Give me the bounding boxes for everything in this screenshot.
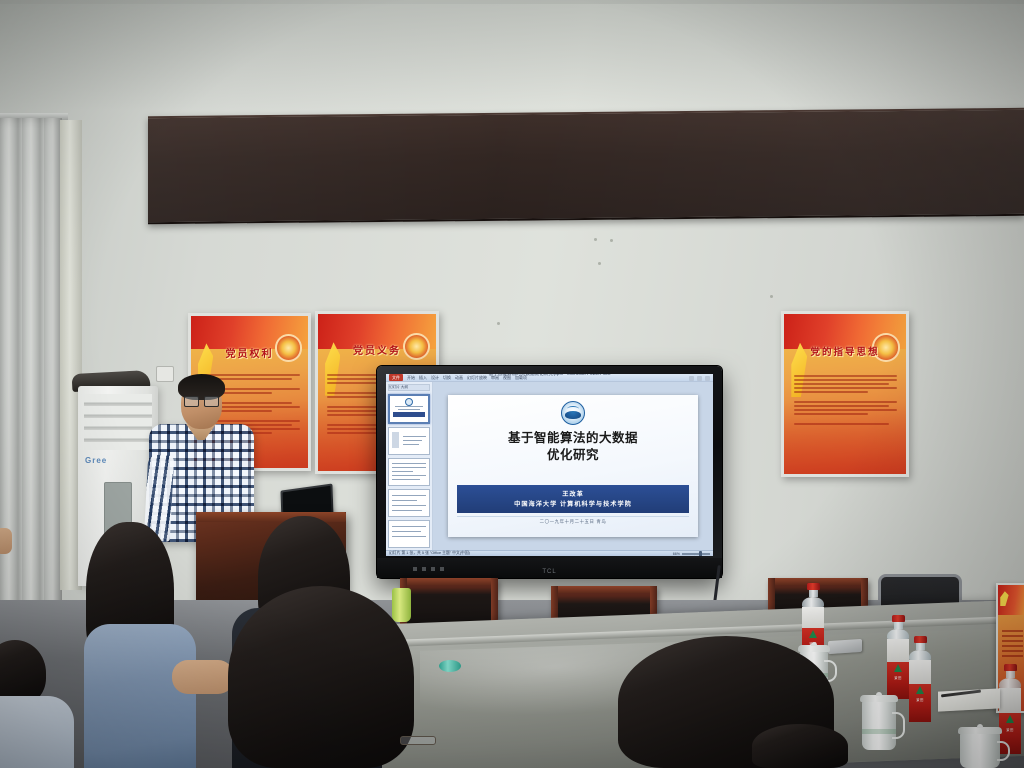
slide-thumbnail-1[interactable] xyxy=(388,394,430,424)
slide-thumbnail-panel[interactable]: 幻灯片 大纲 xyxy=(386,382,433,550)
wall-mark xyxy=(770,295,773,298)
slide-title-line-1: 基于智能算法的大数据 xyxy=(508,430,638,447)
tab-animations[interactable]: 动画 xyxy=(455,375,463,381)
wall-mark xyxy=(598,262,601,265)
bottle-tree-logo xyxy=(809,630,817,638)
poster-guiding-ideology: 党的指导思想 xyxy=(781,311,909,477)
bottle-cap xyxy=(807,583,820,590)
poster-bottom-glow xyxy=(784,402,906,474)
mug-lid-knob[interactable] xyxy=(811,642,817,646)
chair-top-rail xyxy=(551,586,657,593)
poster-text-lines xyxy=(1002,630,1023,657)
bottle-cap xyxy=(1004,664,1017,671)
ac-vent-louvers xyxy=(84,394,152,450)
attendee-blue-shirt-body xyxy=(84,624,196,768)
bottle-brand-text: 景田 xyxy=(909,697,931,702)
current-slide[interactable]: 基于智能算法的大数据 优化研究 王改革 中国海洋大学 计算机科学与技术学院 二〇… xyxy=(448,395,697,538)
conference-room-scene: 党员权利 党员义务 党的指导思想 xyxy=(0,0,1024,768)
bottle-body: 景田 xyxy=(909,660,931,722)
bottle-brand-text: 景田 xyxy=(999,727,1021,732)
raised-hand xyxy=(0,528,12,554)
wall-top-shadow xyxy=(0,0,1024,110)
mug-decor-band xyxy=(862,729,896,734)
tab-transitions[interactable]: 切换 xyxy=(443,375,451,381)
poster-title: 党的指导思想 xyxy=(784,344,906,358)
smartphone[interactable] xyxy=(828,639,862,654)
slide-affiliation: 中国海洋大学 计算机科学与技术学院 xyxy=(514,499,632,508)
slide-author-band: 王改革 中国海洋大学 计算机科学与技术学院 xyxy=(457,485,689,514)
tv-brand-label: TCL xyxy=(542,569,556,575)
bottle-cap xyxy=(914,636,927,643)
tab-design[interactable]: 设计 xyxy=(431,375,439,381)
attendee-glasses-icon xyxy=(400,736,436,745)
bottle-neck xyxy=(894,622,903,629)
zoom-level[interactable]: 66% xyxy=(673,552,680,556)
poster-title: 党员义务 xyxy=(318,342,436,357)
wall-fixture xyxy=(930,330,940,346)
powerpoint-window[interactable]: 基于智能算法的大数据优化研究.pptx - Microsoft PowerPoi… xyxy=(386,374,713,556)
bottle-label-top xyxy=(802,607,824,628)
mug-2[interactable] xyxy=(862,700,896,750)
water-bottle-2[interactable]: 景田 xyxy=(886,615,910,699)
mug-3[interactable] xyxy=(960,732,1000,768)
bottle-label: 景田 xyxy=(909,684,931,722)
slide-date: 二〇一九年十月二十五日 青岛 xyxy=(540,519,607,535)
bottle-shoulder xyxy=(999,678,1021,688)
bottle-neck xyxy=(916,643,925,650)
tab-home[interactable]: 开始 xyxy=(407,375,415,381)
attendee-bottom-right-hair xyxy=(752,724,848,768)
poster-title: 党员权利 xyxy=(191,345,308,360)
ac-brand-label: Gree xyxy=(85,456,107,465)
mug-body xyxy=(960,732,1000,768)
bottle-brand-text: 景田 xyxy=(887,675,909,680)
zoom-slider[interactable] xyxy=(682,553,710,555)
tab-slideshow[interactable]: 幻灯片放映 xyxy=(467,375,487,381)
slide-thumbnail-4[interactable] xyxy=(388,489,430,517)
bottle-neck xyxy=(1006,671,1015,678)
attendee-far-left-body xyxy=(0,696,74,768)
attendee-blue-shirt-arm xyxy=(172,660,234,694)
ppt-workspace: 幻灯片 大纲 xyxy=(386,382,713,550)
mug-handle xyxy=(892,712,905,739)
water-bottle-3[interactable]: 景田 xyxy=(908,636,932,722)
tab-insert[interactable]: 插入 xyxy=(419,375,427,381)
tab-file[interactable]: 文件 xyxy=(389,374,403,381)
mug-lid[interactable] xyxy=(860,695,898,702)
mug-lid[interactable] xyxy=(798,645,830,652)
tv-bottom-bezel: TCL xyxy=(377,558,722,578)
attendee-foreground-left-hair xyxy=(228,586,414,768)
wall-mounted-tv: 基于智能算法的大数据优化研究.pptx - Microsoft PowerPoi… xyxy=(377,366,722,578)
mug-lid-knob[interactable] xyxy=(977,724,983,728)
tv-screen[interactable]: 基于智能算法的大数据优化研究.pptx - Microsoft PowerPoi… xyxy=(386,374,713,556)
wall-socket[interactable] xyxy=(156,366,174,382)
wall-banner-band xyxy=(148,108,1024,224)
wall-mark xyxy=(497,322,500,325)
bottle-shoulder xyxy=(887,629,909,639)
wall-mark xyxy=(594,238,597,241)
wall-mark xyxy=(610,239,613,242)
bottle-label: 景田 xyxy=(887,662,909,699)
bottle-label-top xyxy=(909,660,931,684)
green-tumbler[interactable] xyxy=(392,588,411,622)
slide-thumbnail-3[interactable] xyxy=(388,458,430,486)
banner-sheen xyxy=(148,110,1024,222)
bottle-cap xyxy=(892,615,905,622)
bottle-tree-logo xyxy=(916,686,924,694)
mug-body xyxy=(862,700,896,750)
teal-lid-object[interactable] xyxy=(439,660,461,672)
slide-title-line-2: 优化研究 xyxy=(547,447,599,464)
slide-editing-stage[interactable]: 基于智能算法的大数据 优化研究 王改革 中国海洋大学 计算机科学与技术学院 二〇… xyxy=(433,382,713,550)
bottle-neck xyxy=(809,590,818,597)
presenter-glasses-icon xyxy=(184,396,219,405)
mug-lid-knob[interactable] xyxy=(876,692,882,696)
ouc-university-emblem xyxy=(561,401,585,425)
zoom-slider-knob[interactable] xyxy=(699,551,702,557)
bottle-body: 景田 xyxy=(887,639,909,699)
thumbnail-panel-header[interactable]: 幻灯片 大纲 xyxy=(388,384,430,391)
ppt-window-title: 基于智能算法的大数据优化研究.pptx - Microsoft PowerPoi… xyxy=(489,374,611,377)
bottle-shoulder xyxy=(802,597,824,607)
slide-thumbnail-5[interactable] xyxy=(388,520,430,548)
bottle-tree-logo xyxy=(1006,715,1014,723)
slide-author: 王改革 xyxy=(562,489,584,498)
chair-top-rail xyxy=(400,578,498,585)
mug-lid[interactable] xyxy=(958,727,1002,734)
bottle-label-top xyxy=(887,639,909,662)
slide-footer: 二〇一九年十月二十五日 青岛 xyxy=(457,516,689,535)
tv-indicator-leds xyxy=(413,567,447,571)
bottle-shoulder xyxy=(909,650,931,660)
slide-thumbnail-2[interactable] xyxy=(388,427,430,455)
bottle-label-top xyxy=(999,688,1021,713)
bottle-tree-logo xyxy=(894,664,902,672)
